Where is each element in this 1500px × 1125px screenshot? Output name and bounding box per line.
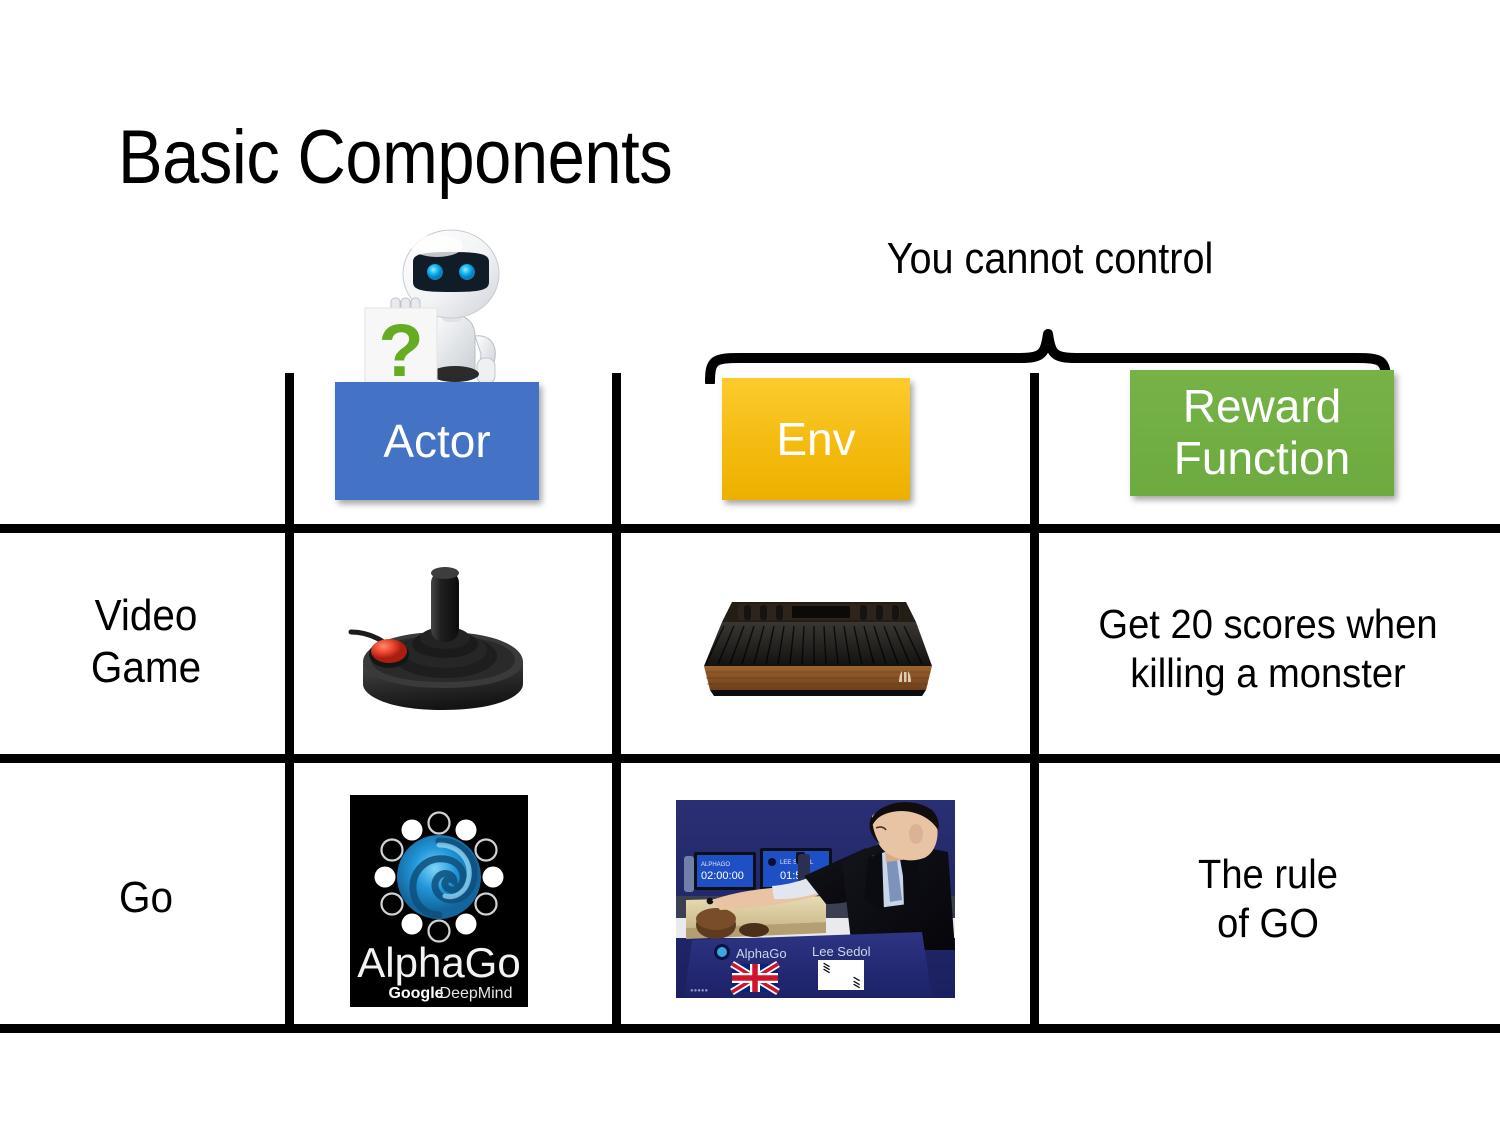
panel-brand-label: AlphaGo	[736, 946, 787, 961]
row-label-video-game: Video Game	[21, 590, 271, 694]
header-label-env: Env	[776, 412, 855, 466]
svg-text:●●●●●: ●●●●●	[690, 988, 708, 994]
alphago-wordmark: AlphaGo	[357, 939, 520, 986]
header-label-reward-line2: Function	[1174, 433, 1350, 485]
header-label-actor: Actor	[383, 414, 490, 468]
header-label-reward-line1: Reward	[1183, 381, 1342, 433]
lee-sedol-match-photo: ALPHAGO 02:00:00 LEE SEDOL 01:59:41	[676, 800, 955, 998]
panel-player-label: Lee Sedol	[812, 944, 871, 959]
deepmind-wordmark: DeepMind	[440, 985, 513, 1002]
header-box-env: Env	[722, 378, 910, 500]
header-box-actor: Actor	[335, 382, 539, 500]
table-bottom-rule	[0, 1024, 1500, 1033]
table-column-divider-3	[1030, 373, 1039, 1028]
row-label-go-line1: Go	[21, 872, 271, 924]
annotation-caption: You cannot control	[816, 234, 1284, 284]
clock-left-name: ALPHAGO	[701, 862, 730, 868]
atari-joystick-icon	[333, 560, 549, 726]
reward-video-line2: killing a monster	[1058, 649, 1478, 698]
table-column-divider-2	[612, 373, 621, 1028]
south-korea-flag-icon	[818, 960, 864, 990]
robot-question-mark: ?	[378, 309, 423, 392]
table-row-divider	[0, 754, 1500, 763]
google-wordmark: Google	[388, 985, 443, 1002]
row-label-video-game-line2: Game	[21, 642, 271, 694]
slide-canvas: Basic Components You cannot control	[0, 0, 1500, 1125]
reward-go-line1: The rule	[1058, 850, 1478, 899]
united-kingdom-flag-icon	[732, 964, 778, 992]
header-box-reward-function: Reward Function	[1130, 370, 1394, 496]
white-robot-icon: ?	[355, 224, 533, 396]
atari-console-icon	[680, 592, 958, 704]
reward-cell-video-game: Get 20 scores when killing a monster	[1058, 600, 1478, 698]
reward-cell-go: The rule of GO	[1058, 850, 1478, 948]
reward-go-line2: of GO	[1058, 899, 1478, 948]
page-title: Basic Components	[118, 118, 672, 198]
table-header-rule	[0, 524, 1500, 533]
row-label-video-game-line1: Video	[21, 590, 271, 642]
alphago-logo-icon: AlphaGo Google DeepMind	[350, 795, 528, 1007]
reward-video-line1: Get 20 scores when	[1058, 600, 1478, 649]
table-column-divider-1	[285, 373, 294, 1028]
row-label-go: Go	[21, 872, 271, 924]
clock-left-time: 02:00:00	[701, 870, 744, 882]
